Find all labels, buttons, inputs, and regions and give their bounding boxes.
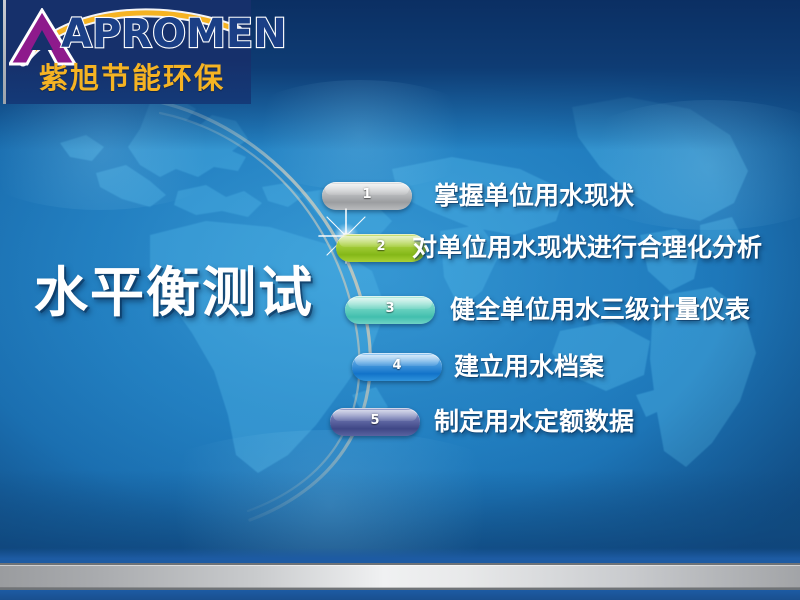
list-item-label: 对单位用水现状进行合理化分析 (412, 230, 762, 266)
list-item-label: 掌握单位用水现状 (434, 178, 634, 214)
step-badge-5[interactable]: 5 (330, 408, 420, 436)
step-badge-4[interactable]: 4 (352, 353, 442, 381)
step-badge-3[interactable]: 3 (345, 296, 435, 324)
list-item-label: 制定用水定额数据 (434, 404, 634, 440)
footer-blue-lower-band (0, 590, 800, 600)
logo-company-name-cn: 紫旭节能环保 (39, 64, 225, 93)
step-number: 4 (352, 358, 442, 373)
step-badge-1[interactable]: 1 (322, 182, 412, 210)
step-number: 5 (330, 413, 420, 428)
logo-block: APROMEN 紫旭节能环保 (3, 0, 251, 104)
list-item-label: 建立用水档案 (454, 349, 604, 385)
footer-silver-band (0, 565, 800, 588)
footer-blue-upper-band (0, 548, 800, 563)
slide-canvas: APROMEN 紫旭节能环保 水平衡测试 1 掌握单位用水现状 (0, 0, 800, 600)
step-number: 3 (345, 301, 435, 316)
page-title: 水平衡测试 (34, 266, 314, 320)
list-item-label: 健全单位用水三级计量仪表 (450, 292, 750, 328)
logo-wordmark: APROMEN (61, 14, 287, 54)
step-number: 1 (322, 187, 412, 202)
